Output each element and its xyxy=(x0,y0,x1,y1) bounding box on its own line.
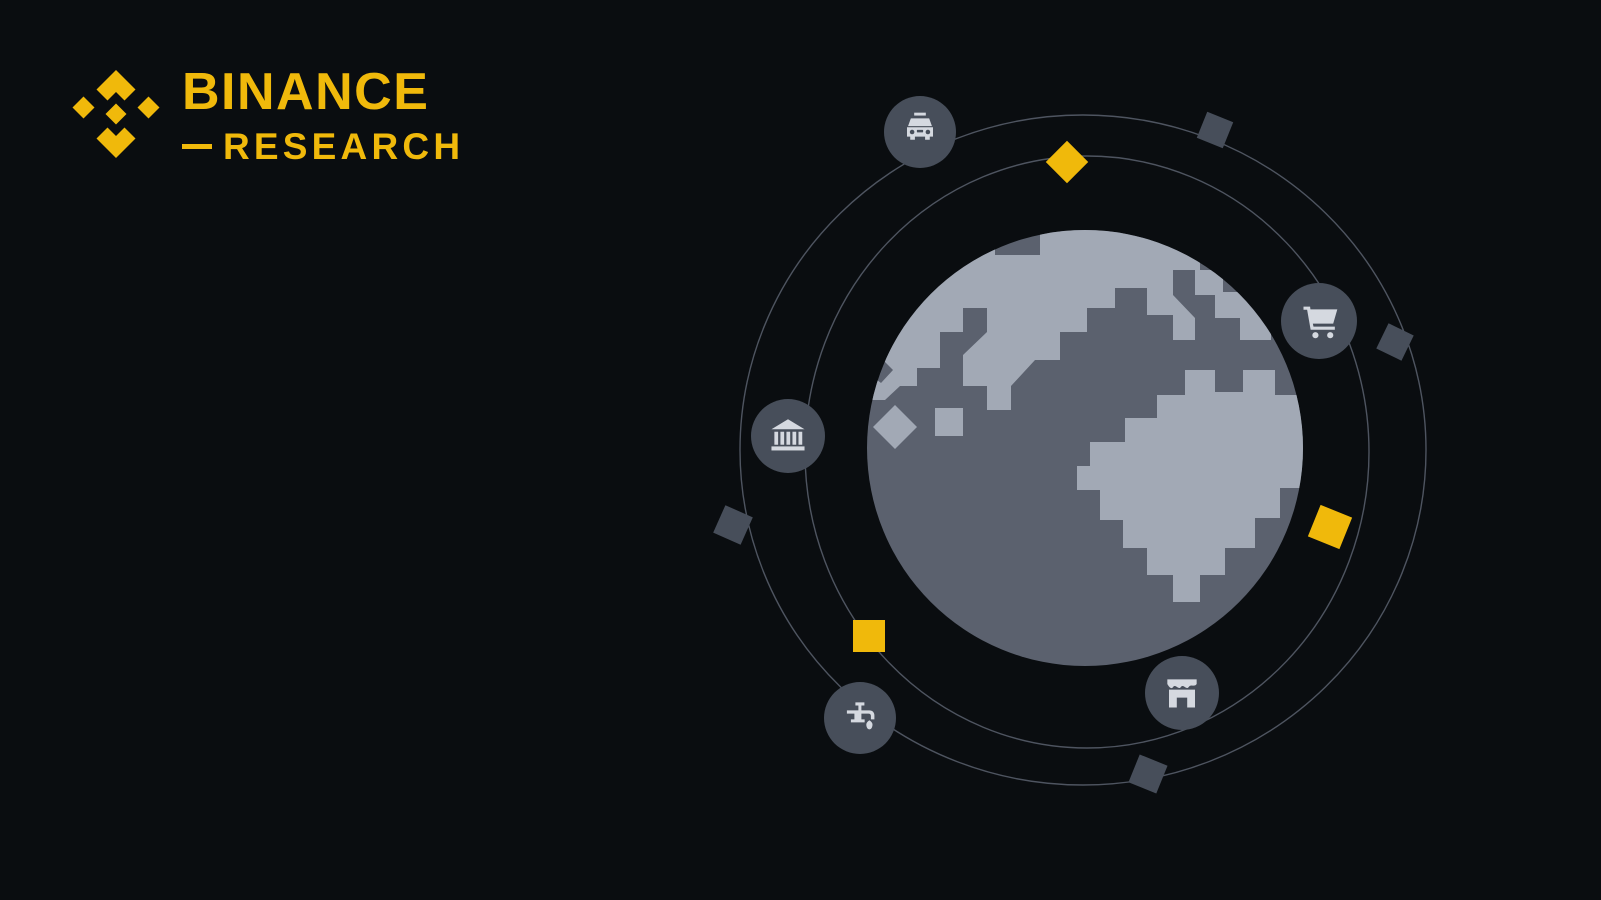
node-taxi[interactable] xyxy=(884,96,956,168)
brand-primary-text: BINANCE xyxy=(182,66,464,118)
global-economy-illustration xyxy=(695,70,1445,830)
node-storefront[interactable] xyxy=(1145,656,1219,730)
storefront-icon xyxy=(1167,679,1196,707)
brand-dash-rule xyxy=(182,144,212,149)
binance-diamond-logo-icon xyxy=(64,62,168,166)
cover-canvas: BINANCE RESEARCH xyxy=(0,0,1601,900)
marker-gray-square-bottom-icon xyxy=(1128,754,1167,793)
marker-gray-square-right-icon xyxy=(1376,323,1413,360)
node-water-tap[interactable] xyxy=(824,682,896,754)
marker-gold-square-bottom-icon xyxy=(853,620,885,652)
marker-gold-diamond-top-icon xyxy=(1046,141,1088,183)
marker-gray-square-topright-icon xyxy=(1197,112,1233,148)
node-shopping-cart[interactable] xyxy=(1281,283,1357,359)
globe-island xyxy=(1253,205,1293,245)
node-bank[interactable] xyxy=(751,399,825,473)
marker-gold-square-right-icon xyxy=(1308,505,1352,549)
brand-secondary-row: RESEARCH xyxy=(182,128,464,165)
brand-secondary-text: RESEARCH xyxy=(223,128,464,165)
globe-scene-svg xyxy=(695,70,1445,830)
marker-gray-square-left-icon xyxy=(713,505,753,545)
brand-wordmark: BINANCE RESEARCH xyxy=(182,66,464,165)
brand-lockup: BINANCE RESEARCH xyxy=(64,62,464,166)
